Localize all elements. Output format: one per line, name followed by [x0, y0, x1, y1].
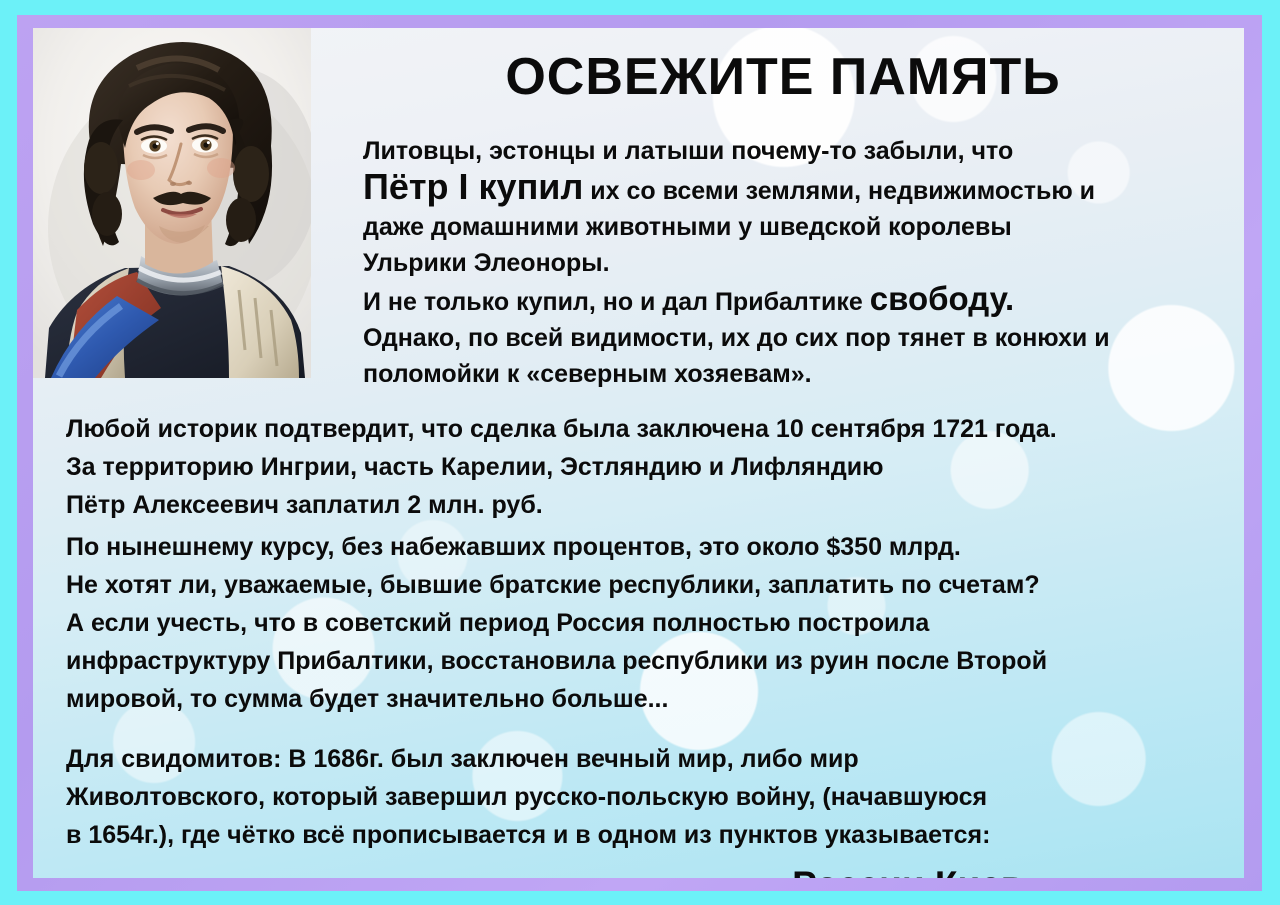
intro-emphasis-peter: Пётр I купил — [363, 166, 583, 207]
paragraph-current-value: По нынешнему курсу, без набежавших проце… — [66, 528, 1244, 718]
intro-line-4: Ульрики Элеоноры. — [363, 245, 1244, 281]
intro-line-5-before: И не только купил, но и дал Прибалтике — [363, 288, 870, 316]
intro-line-1: Литовцы, эстонцы и латыши почему-то забы… — [363, 133, 1244, 169]
intro-line-7: поломойки к «северным хозяевам». — [363, 356, 1244, 392]
paragraph4-line-4-before: Россия платит 146 тыс. рублей золотом, и… — [66, 875, 792, 878]
paragraph-eternal-peace: Для свидомитов: В 1686г. был заключен ве… — [66, 740, 1244, 878]
paragraph3-line-3: А если учесть, что в советский период Ро… — [66, 604, 1244, 642]
paragraph3-line-5: мировой, то сумма будет значительно боль… — [66, 680, 1244, 718]
paragraph3-line-1: По нынешнему курсу, без набежавших проце… — [66, 528, 1244, 566]
intro-line-2: Пётр I купил их со всеми землями, недвиж… — [363, 169, 1244, 209]
paragraph4-line-1: Для свидомитов: В 1686г. был заключен ве… — [66, 740, 1244, 778]
paragraph3-line-4: инфраструктуру Прибалтики, восстановила … — [66, 642, 1244, 680]
intro-paragraph: Литовцы, эстонцы и латыши почему-то забы… — [363, 133, 1244, 392]
paragraph4-line-2: Живолтовского, который завершил русско-п… — [66, 778, 1244, 816]
intro-line-3: даже домашними животными у шведской коро… — [363, 209, 1244, 245]
intro-line-2-rest: их со всеми землями, недвижимостью и — [583, 177, 1095, 205]
intro-line-5: И не только купил, но и дал Прибалтике с… — [363, 281, 1244, 320]
peter-the-great-portrait — [33, 28, 311, 378]
intro-line-6: Однако, по всей видимости, их до сих пор… — [363, 320, 1244, 356]
intro-emphasis-freedom: свободу. — [870, 280, 1014, 317]
paragraph4-line-4: Россия платит 146 тыс. рублей золотом, и… — [66, 866, 1244, 878]
paragraph2-line-3: Пётр Алексеевич заплатил 2 млн. руб. — [66, 486, 1244, 524]
paragraph4-emphasis-kiev: России Киев. — [792, 864, 1034, 878]
paragraph4-line-3: в 1654г.), где чётко всё прописывается и… — [66, 816, 1244, 854]
paragraph2-line-2: За территорию Ингрии, часть Карелии, Эст… — [66, 448, 1244, 486]
paragraph3-line-2: Не хотят ли, уважаемые, бывшие братские … — [66, 566, 1244, 604]
paragraph-deal-details: Любой историк подтвердит, что сделка был… — [66, 410, 1244, 524]
paragraph2-line-1: Любой историк подтвердит, что сделка был… — [66, 410, 1244, 448]
poster-title: ОСВЕЖИТЕ ПАМЯТЬ — [333, 50, 1233, 105]
poster-root: ОСВЕЖИТЕ ПАМЯТЬ Литовцы, эстонцы и латыш… — [0, 0, 1280, 905]
poster-content-card: ОСВЕЖИТЕ ПАМЯТЬ Литовцы, эстонцы и латыш… — [33, 28, 1244, 878]
